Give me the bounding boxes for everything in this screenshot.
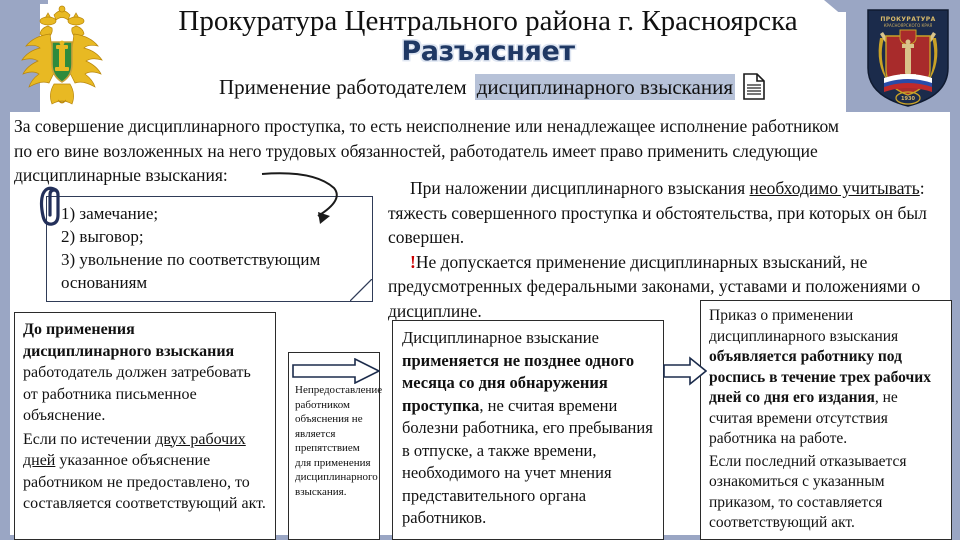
consideration-para-1: При наложении дисциплинарного взыскания … (388, 176, 954, 250)
block-arrow-right-1 (292, 358, 380, 384)
intro-line-1: За совершение дисциплинарного проступка,… (14, 114, 946, 139)
prosecutor-eagle-emblem (14, 4, 110, 108)
box3-para: Дисциплинарное взыскание применяется не … (402, 327, 654, 530)
page-edge-left (0, 0, 10, 540)
curved-hook-arrow (258, 166, 388, 228)
box4-para-1: Приказ о применении дисциплинарного взыс… (709, 306, 943, 450)
box1-p1-rest: работодатель должен затребовать от работ… (23, 364, 251, 424)
badge-year: 1930 (901, 96, 915, 102)
box-one-month-deadline: Дисциплинарное взыскание применяется не … (392, 320, 664, 540)
page-topic-line: Применение работодателем дисциплинарного… (128, 73, 856, 100)
poster-page: ПРОКУРАТУРА КРАСНОЯРСКОГО КРАЯ 1930 Прок… (0, 0, 960, 540)
box2-text: Непредоставление работником объяснения н… (295, 383, 373, 499)
page-title: Прокуратура Центрального района г. Красн… (128, 4, 848, 38)
block-arrow-right-2 (663, 356, 707, 386)
box3-a: Дисциплинарное взыскание (402, 328, 599, 347)
paperclip-icon (38, 184, 66, 228)
measure-item-2: 2) выговор; (61, 225, 364, 248)
box4-para-2: Если последний отказывается ознакомиться… (709, 452, 943, 534)
measure-item-4: основаниям (61, 271, 364, 294)
box1-p2-b: указанное объяснение работником не предо… (23, 452, 266, 512)
box-request-explanation: До применения дисциплинарного взыскания … (14, 312, 276, 540)
svg-text:КРАСНОЯРСКОГО КРАЯ: КРАСНОЯРСКОГО КРАЯ (884, 23, 933, 28)
box1-p2-a: Если по истечении (23, 431, 155, 448)
box1-para-1: До применения дисциплинарного взыскания … (23, 319, 267, 427)
document-icon (743, 73, 765, 100)
folded-corner-icon (350, 279, 372, 301)
measure-item-3: 3) увольнение по соответствующим (61, 248, 364, 271)
krasnoyarsk-prosecutor-badge: ПРОКУРАТУРА КРАСНОЯРСКОГО КРАЯ 1930 (860, 4, 956, 110)
box1-para-2: Если по истечении двух рабочих дней указ… (23, 429, 267, 515)
cons-p1-underline: необходимо учитывать (750, 178, 920, 198)
box4-a: Приказ о применении дисциплинарного взыс… (709, 307, 898, 345)
intro-line-2: по его вине возложенных на него трудовых… (14, 139, 946, 164)
box3-b: , не считая времени болезни работника, е… (402, 396, 653, 528)
svg-text:ПРОКУРАТУРА: ПРОКУРАТУРА (880, 16, 935, 23)
cons-p1-a: При наложении дисциплинарного взыскания (410, 178, 750, 198)
box1-bold-head: До применения дисциплинарного взыскания (23, 321, 234, 360)
topic-prefix: Применение работодателем (219, 74, 467, 100)
topic-highlight: дисциплинарного взыскания (475, 74, 735, 100)
box-order-signature: Приказ о применении дисциплинарного взыс… (700, 300, 952, 540)
page-subtitle-razyasnyaet: Разъясняет (128, 36, 848, 67)
